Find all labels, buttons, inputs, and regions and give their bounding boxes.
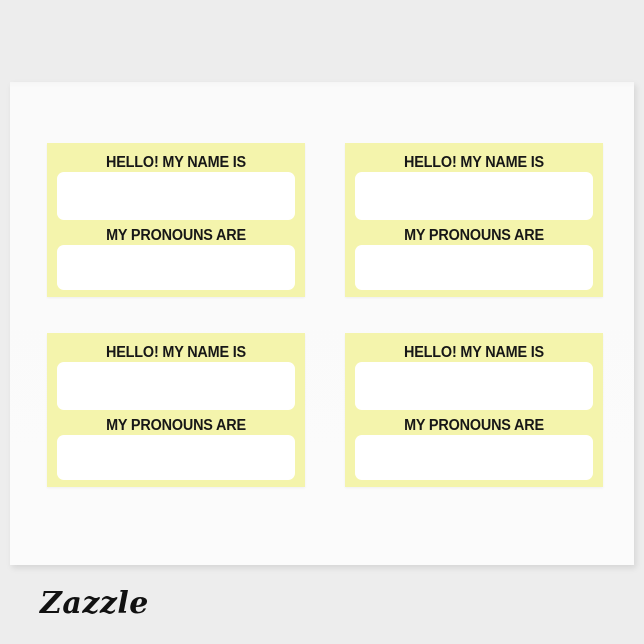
pronouns-heading: MY PRONOUNS ARE bbox=[354, 418, 594, 434]
pronouns-write-field[interactable] bbox=[355, 245, 593, 290]
name-write-field[interactable] bbox=[57, 172, 295, 220]
sticker-grid: HELLO! MY NAME IS MY PRONOUNS ARE HELLO!… bbox=[47, 143, 601, 487]
name-write-field[interactable] bbox=[355, 172, 593, 220]
sticker-bottom-left[interactable]: HELLO! MY NAME IS MY PRONOUNS ARE bbox=[47, 333, 305, 487]
zazzle-logo: Zazzle bbox=[40, 589, 149, 619]
name-write-field[interactable] bbox=[355, 362, 593, 410]
name-heading: HELLO! MY NAME IS bbox=[354, 345, 594, 361]
pronouns-heading: MY PRONOUNS ARE bbox=[354, 228, 594, 244]
pronouns-write-field[interactable] bbox=[355, 435, 593, 480]
sticker-top-right[interactable]: HELLO! MY NAME IS MY PRONOUNS ARE bbox=[345, 143, 603, 297]
sticker-bottom-right[interactable]: HELLO! MY NAME IS MY PRONOUNS ARE bbox=[345, 333, 603, 487]
sticker-top-left[interactable]: HELLO! MY NAME IS MY PRONOUNS ARE bbox=[47, 143, 305, 297]
pronouns-write-field[interactable] bbox=[57, 245, 295, 290]
name-heading: HELLO! MY NAME IS bbox=[354, 155, 594, 171]
screenshot-stage: HELLO! MY NAME IS MY PRONOUNS ARE HELLO!… bbox=[0, 0, 644, 644]
pronouns-heading: MY PRONOUNS ARE bbox=[56, 228, 296, 244]
pronouns-heading: MY PRONOUNS ARE bbox=[56, 418, 296, 434]
sticker-sheet: HELLO! MY NAME IS MY PRONOUNS ARE HELLO!… bbox=[10, 82, 634, 565]
name-write-field[interactable] bbox=[57, 362, 295, 410]
pronouns-write-field[interactable] bbox=[57, 435, 295, 480]
name-heading: HELLO! MY NAME IS bbox=[56, 345, 296, 361]
name-heading: HELLO! MY NAME IS bbox=[56, 155, 296, 171]
